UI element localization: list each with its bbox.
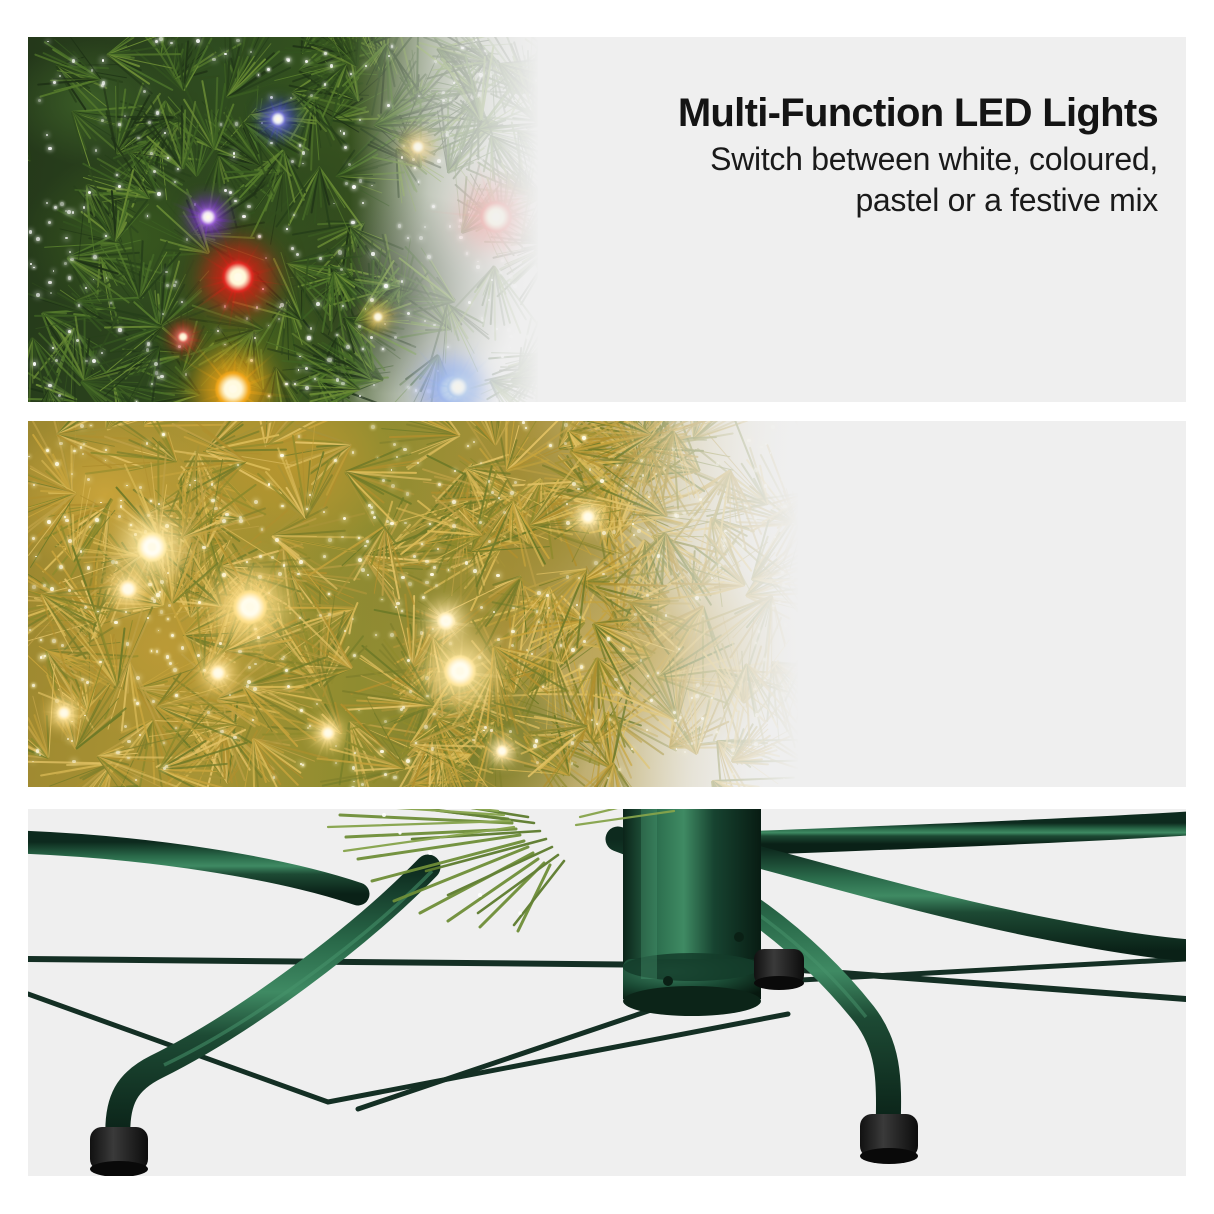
stand-foot-back bbox=[754, 949, 804, 990]
stand-foot-right bbox=[860, 1114, 918, 1164]
photo-fade-edge bbox=[610, 421, 798, 787]
led-bulb bbox=[57, 706, 71, 720]
led-bulb bbox=[177, 331, 189, 343]
led-bulb bbox=[437, 612, 455, 630]
headline-led-lights: Multi-Function LED Lights bbox=[678, 92, 1158, 134]
photo-led-lights bbox=[28, 37, 538, 402]
feature-panel-sturdy-base: Sturdy Base Stable foundation for solid … bbox=[28, 809, 1186, 1176]
copy-block-led-lights: Multi-Function LED Lights Switch between… bbox=[678, 92, 1158, 221]
led-bulb bbox=[210, 665, 226, 681]
led-bulb bbox=[215, 371, 251, 402]
led-bulb bbox=[444, 655, 476, 687]
led-bulb bbox=[222, 261, 254, 293]
led-bulb bbox=[137, 532, 167, 562]
led-bulb bbox=[199, 208, 217, 226]
led-bulb bbox=[321, 726, 335, 740]
stand-foot-rear bbox=[646, 959, 690, 993]
photo-fade-edge bbox=[350, 37, 538, 402]
stand-leg-back-right bbox=[728, 823, 1186, 844]
led-bulb bbox=[581, 510, 595, 524]
led-bulb bbox=[270, 111, 286, 127]
feature-panel-led-lights: Multi-Function LED Lights Switch between… bbox=[28, 37, 1186, 402]
led-bulb bbox=[119, 580, 137, 598]
led-bulb bbox=[496, 745, 508, 757]
tree-stand-illustration bbox=[28, 809, 1186, 1176]
stand-center-pole bbox=[623, 809, 761, 1016]
photo-gold-foliage bbox=[28, 421, 798, 787]
led-bulb bbox=[233, 590, 267, 624]
subline-led-lights-1: Switch between white, coloured, bbox=[678, 139, 1158, 180]
stand-foot-left bbox=[90, 1127, 148, 1176]
infographic-sheet: Multi-Function LED Lights Switch between… bbox=[0, 0, 1214, 1214]
stand-leg-back-left bbox=[28, 842, 358, 894]
subline-led-lights-2: pastel or a festive mix bbox=[678, 180, 1158, 221]
feature-panel-gold-foliage: Gold Glitter Foliage Shimmering branches… bbox=[28, 421, 1186, 787]
photo-tree-stand bbox=[28, 809, 1186, 1176]
